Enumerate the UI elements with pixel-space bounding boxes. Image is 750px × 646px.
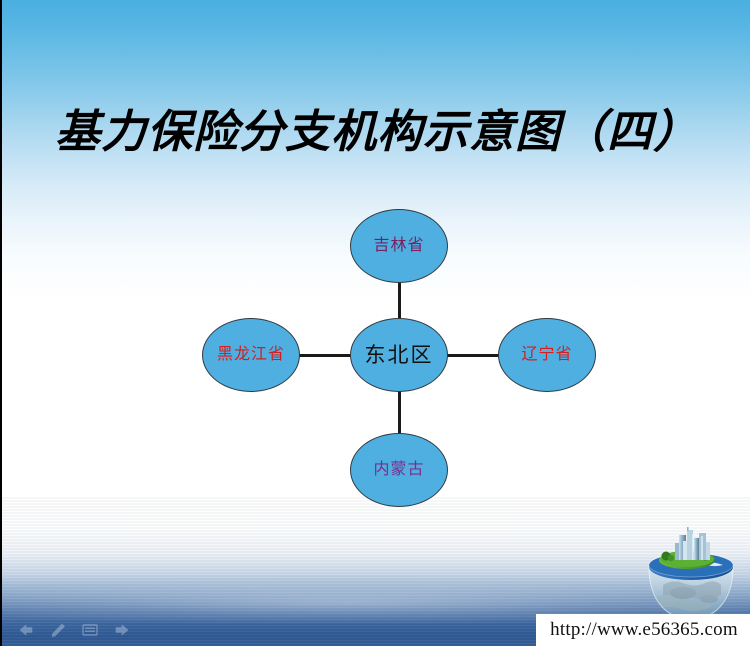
node-label-jilin: 吉林省 (373, 237, 424, 255)
connector-center-to-left (299, 354, 351, 357)
watermark-url-bar: http://www.e56365.com (536, 614, 750, 646)
node-inner-mongolia[interactable]: 内蒙古 (350, 433, 448, 507)
watermark-url-text: http://www.e56365.com (550, 619, 738, 641)
arrow-left-icon (17, 623, 35, 637)
node-label-liaoning: 辽宁省 (521, 346, 572, 364)
slideshow-nav-bar[interactable] (16, 622, 132, 638)
presentation-slide: 基力保险分支机构示意图（四） 吉林省 黑龙江省 东北区 辽宁省 内蒙古 (0, 0, 750, 646)
earth-city-globe-logo (639, 527, 743, 623)
node-label-heilongjiang: 黑龙江省 (217, 346, 285, 364)
connector-center-to-right (447, 354, 499, 357)
menu-icon (81, 623, 99, 637)
previous-slide-button[interactable] (16, 622, 36, 638)
node-label-northeast-region: 东北区 (365, 346, 434, 364)
node-jilin[interactable]: 吉林省 (350, 209, 448, 283)
slide-menu-button[interactable] (80, 622, 100, 638)
next-slide-button[interactable] (112, 622, 132, 638)
node-heilongjiang[interactable]: 黑龙江省 (202, 318, 300, 392)
connector-center-to-bottom (398, 391, 401, 434)
pen-tool-button[interactable] (48, 622, 68, 638)
pen-icon (50, 623, 66, 637)
arrow-right-icon (113, 623, 131, 637)
org-structure-diagram: 吉林省 黑龙江省 东北区 辽宁省 内蒙古 (2, 0, 750, 646)
node-label-inner-mongolia: 内蒙古 (373, 461, 424, 479)
node-liaoning[interactable]: 辽宁省 (498, 318, 596, 392)
node-northeast-region[interactable]: 东北区 (350, 318, 448, 392)
connector-center-to-top (398, 282, 401, 319)
